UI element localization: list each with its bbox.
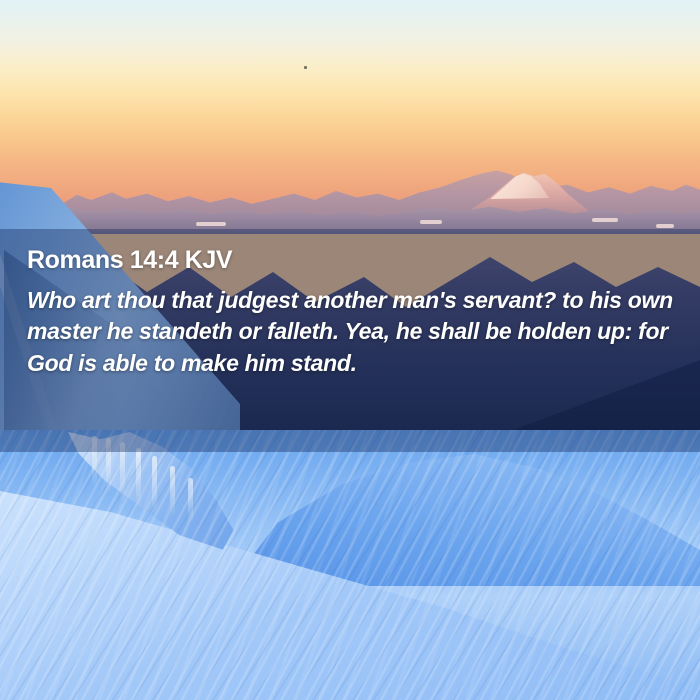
snow-glint — [420, 220, 442, 224]
sky-speck-artifact — [304, 66, 307, 69]
snow-glint — [592, 218, 618, 222]
verse-image-canvas: Romans 14:4 KJV Who art thou that judges… — [0, 0, 700, 700]
verse-text: Who art thou that judgest another man's … — [27, 285, 676, 380]
snow-surface-texture — [0, 430, 700, 700]
snow-glint — [656, 224, 674, 228]
verse-overlay-band: Romans 14:4 KJV Who art thou that judges… — [0, 229, 700, 452]
snow-glint — [196, 222, 226, 226]
verse-reference: Romans 14:4 KJV — [27, 247, 676, 275]
